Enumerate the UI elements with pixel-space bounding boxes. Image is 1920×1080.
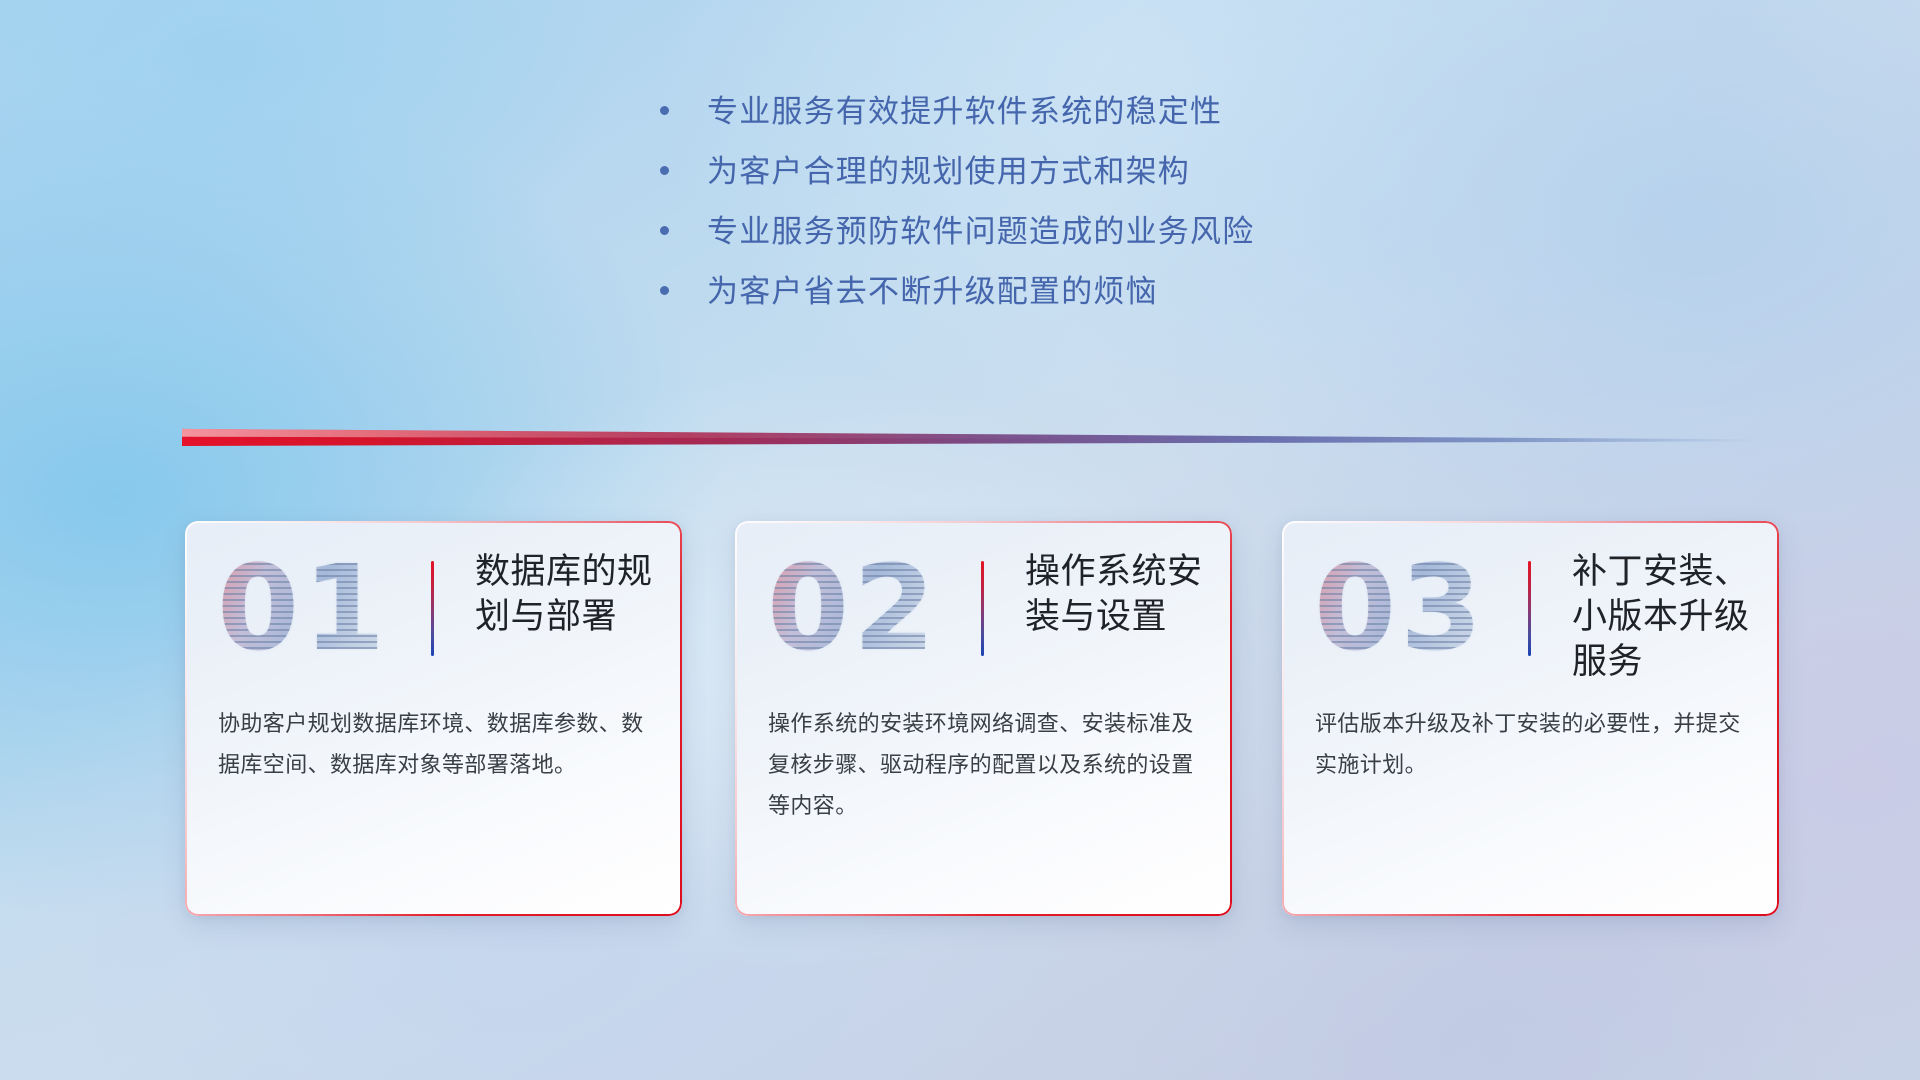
card-accent-bar: [1528, 561, 1531, 656]
card-title: 操作系统安装与设置: [1025, 549, 1215, 639]
card-body-text: 评估版本升级及补丁安装的必要性，并提交实施计划。: [1315, 704, 1752, 786]
card-title: 补丁安装、小版本升级服务: [1572, 549, 1762, 684]
card-content: 01 01 数据库的规划与部署 协助客户规划数据库环境、数据库参数、数据库空间、…: [185, 521, 682, 916]
card-content: 02 02 操作系统安装与设置 操作系统的安装环境网络调查、安装标准及复核步骤、…: [735, 521, 1232, 916]
card-accent-bar: [431, 561, 434, 656]
service-card[interactable]: 02 02 操作系统安装与设置 操作系统的安装环境网络调查、安装标准及复核步骤、…: [735, 521, 1232, 916]
service-card[interactable]: 03 03 补丁安装、小版本升级服务 评估版本升级及补丁安装的必要性，并提交实施…: [1282, 521, 1779, 916]
card-number-watermark: 02: [767, 549, 939, 667]
service-card-group: 01 01 数据库的规划与部署 协助客户规划数据库环境、数据库参数、数据库空间、…: [0, 0, 1920, 1080]
card-number-watermark: 03: [1314, 549, 1486, 667]
service-card[interactable]: 01 01 数据库的规划与部署 协助客户规划数据库环境、数据库参数、数据库空间、…: [185, 521, 682, 916]
card-accent-bar: [981, 561, 984, 656]
card-body-text: 操作系统的安装环境网络调查、安装标准及复核步骤、驱动程序的配置以及系统的设置等内…: [768, 704, 1205, 827]
slide-stage: 专业服务有效提升软件系统的稳定性 为客户合理的规划使用方式和架构 专业服务预防软…: [0, 0, 1920, 1080]
card-number-watermark: 01: [217, 549, 389, 667]
card-body-text: 协助客户规划数据库环境、数据库参数、数据库空间、数据库对象等部署落地。: [218, 704, 655, 786]
card-title: 数据库的规划与部署: [475, 549, 665, 639]
card-content: 03 03 补丁安装、小版本升级服务 评估版本升级及补丁安装的必要性，并提交实施…: [1282, 521, 1779, 916]
